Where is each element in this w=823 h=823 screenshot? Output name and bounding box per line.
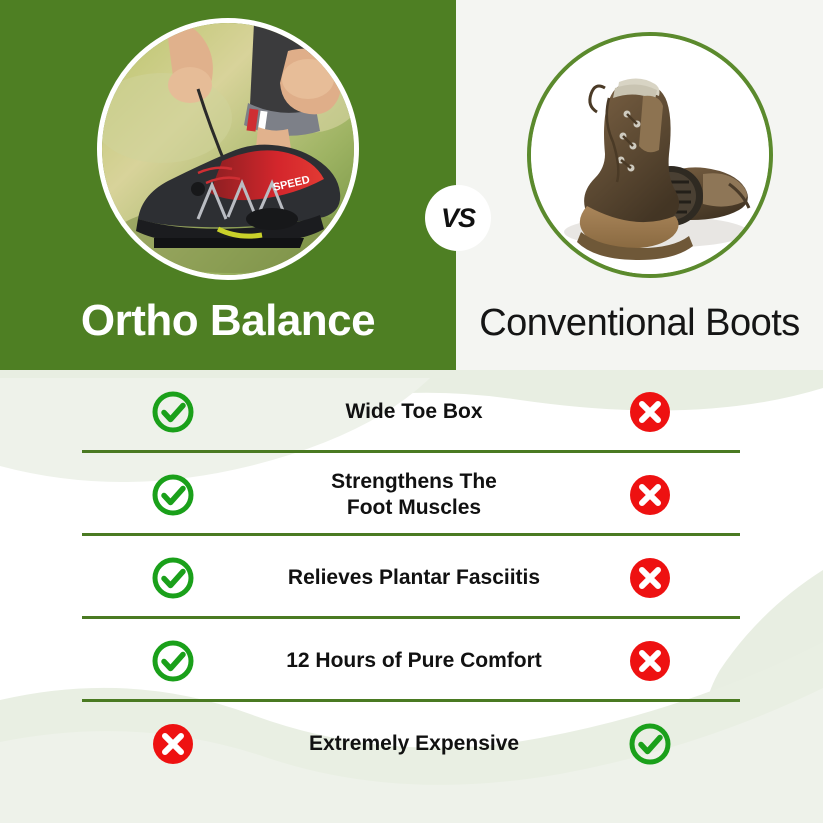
- product-panel-left: SPEED Ortho Balance: [0, 0, 456, 370]
- cross-circle-icon: [627, 472, 673, 518]
- vs-badge: VS: [425, 185, 491, 251]
- feature-label: 12 Hours of Pure Comfort: [228, 648, 600, 674]
- check-circle-icon: [627, 721, 673, 767]
- table-row: Strengthens The Foot Muscles: [0, 453, 823, 536]
- status-icon-left: [150, 389, 196, 435]
- hiking-boots-illustration: [531, 36, 769, 274]
- status-icon-left: [150, 721, 196, 767]
- status-icon-right: [627, 555, 673, 601]
- product-photo-athletic-shoe: SPEED: [97, 18, 359, 280]
- comparison-infographic: SPEED Ortho Balance: [0, 0, 823, 823]
- feature-label: Strengthens The Foot Muscles: [228, 469, 600, 520]
- table-row: 12 Hours of Pure Comfort: [0, 619, 823, 702]
- cross-circle-icon: [627, 555, 673, 601]
- comparison-body: Wide Toe Box Strengthens The: [0, 370, 823, 823]
- comparison-header: SPEED Ortho Balance: [0, 0, 823, 370]
- product-title-left: Ortho Balance: [0, 296, 456, 346]
- check-circle-icon: [150, 555, 196, 601]
- product-panel-right: Conventional Boots: [456, 0, 823, 370]
- status-icon-right: [627, 638, 673, 684]
- product-photo-hiking-boots: [527, 32, 773, 278]
- check-circle-icon: [150, 638, 196, 684]
- status-icon-right: [627, 389, 673, 435]
- status-icon-left: [150, 472, 196, 518]
- cross-circle-icon: [150, 721, 196, 767]
- status-icon-left: [150, 555, 196, 601]
- comparison-rows: Wide Toe Box Strengthens The: [0, 370, 823, 823]
- check-circle-icon: [150, 472, 196, 518]
- feature-label: Extremely Expensive: [228, 731, 600, 757]
- athletic-shoe-illustration: SPEED: [102, 23, 354, 275]
- table-row: Extremely Expensive: [0, 702, 823, 785]
- feature-label: Wide Toe Box: [228, 399, 600, 425]
- table-row: Relieves Plantar Fasciitis: [0, 536, 823, 619]
- check-circle-icon: [150, 389, 196, 435]
- status-icon-right: [627, 472, 673, 518]
- table-row: Wide Toe Box: [0, 370, 823, 453]
- product-title-right: Conventional Boots: [456, 302, 823, 345]
- feature-label: Relieves Plantar Fasciitis: [228, 565, 600, 591]
- cross-circle-icon: [627, 638, 673, 684]
- status-icon-right: [627, 721, 673, 767]
- cross-circle-icon: [627, 389, 673, 435]
- status-icon-left: [150, 638, 196, 684]
